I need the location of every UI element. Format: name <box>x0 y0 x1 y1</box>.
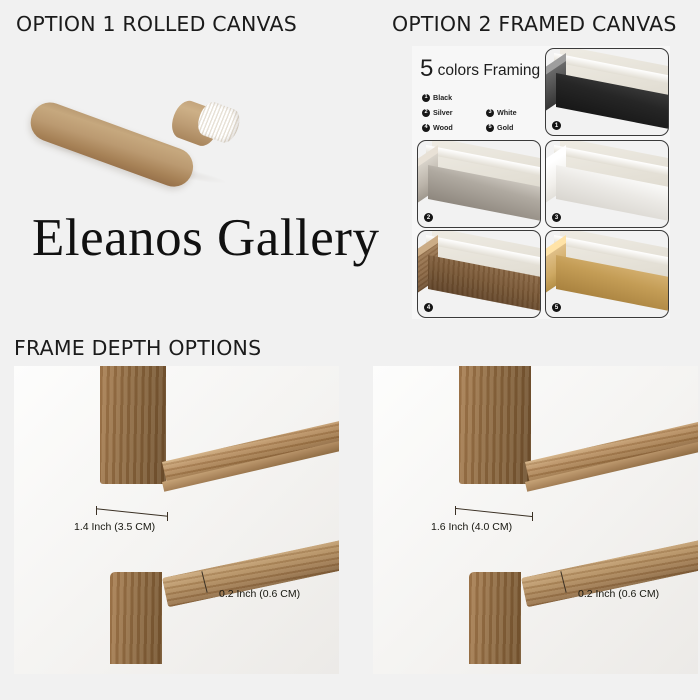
brand-wordmark: Eleanos Gallery <box>32 208 379 268</box>
frame-sample-wood[interactable]: 4 <box>417 230 541 318</box>
legend-label-gold: Gold <box>497 123 513 132</box>
legend-label-white: White <box>497 108 517 117</box>
frame-corner-render <box>545 48 669 136</box>
legend-item-silver: 2 Silver <box>422 108 486 117</box>
framing-count: 5 <box>420 55 433 82</box>
frame-sample-badge-3: 3 <box>552 213 561 222</box>
depth-measure-line <box>455 508 533 517</box>
depth-label-frame: 1.4 Inch (3.5 CM) <box>74 521 155 533</box>
depth-measure-tick-right <box>532 512 533 521</box>
legend-item-black: 1 Black <box>422 93 486 102</box>
option-2-heading: OPTION 2 FRAMED CANVAS <box>392 12 677 36</box>
framing-options-panel: 5 colors Framing 1 Black 2 Silver 3 Whit… <box>412 46 670 319</box>
rolled-canvas-illustration <box>24 52 244 197</box>
legend-number-5: 5 <box>486 124 494 132</box>
legend-number-1: 1 <box>422 94 430 102</box>
frame-edge-bar-end <box>110 572 162 664</box>
legend-number-4: 4 <box>422 124 430 132</box>
frame-sample-white[interactable]: 3 <box>545 140 669 228</box>
frame-sample-gold[interactable]: 5 <box>545 230 669 318</box>
legend-number-3: 3 <box>486 109 494 117</box>
frame-corner-render <box>545 230 669 318</box>
frame-sample-badge-4: 4 <box>424 303 433 312</box>
frame-sample-badge-1: 1 <box>552 121 561 130</box>
depth-label-edge: 0.2 Inch (0.6 CM) <box>219 588 300 600</box>
depth-photo-1-6-inch: 1.6 Inch (4.0 CM) 0.2 Inch (0.6 CM) <box>373 366 698 674</box>
frame-sample-badge-5: 5 <box>552 303 561 312</box>
legend-label-silver: Silver <box>433 108 453 117</box>
frame-corner-render <box>545 140 669 228</box>
frame-corner-render <box>417 230 541 318</box>
legend-label-wood: Wood <box>433 123 453 132</box>
frame-sample-black[interactable]: 1 <box>545 48 669 136</box>
frame-depth-heading: FRAME DEPTH OPTIONS <box>14 336 261 360</box>
frame-sample-silver[interactable]: 2 <box>417 140 541 228</box>
frame-corner-render <box>417 140 541 228</box>
depth-measure-tick-left <box>455 506 456 515</box>
frame-sample-badge-2: 2 <box>424 213 433 222</box>
frame-rail-vertical <box>100 366 166 484</box>
framing-title-text: colors Framing <box>433 62 540 79</box>
depth-label-edge: 0.2 Inch (0.6 CM) <box>578 588 659 600</box>
frame-rail-vertical <box>459 366 531 484</box>
depth-measure-line <box>96 508 168 517</box>
legend-label-black: Black <box>433 93 452 102</box>
depth-label-frame: 1.6 Inch (4.0 CM) <box>431 521 512 533</box>
legend-item-white: 3 White <box>486 108 550 117</box>
depth-photo-1-4-inch: 1.4 Inch (3.5 CM) 0.2 Inch (0.6 CM) <box>14 366 339 674</box>
depth-measure-tick-right <box>167 512 168 521</box>
legend-item-gold: 5 Gold <box>486 123 550 132</box>
option-1-heading: OPTION 1 ROLLED CANVAS <box>16 12 297 36</box>
legend-item-wood: 4 Wood <box>422 123 486 132</box>
frame-edge-bar-end <box>469 572 521 664</box>
framing-title: 5 colors Framing <box>420 55 540 83</box>
color-legend: 1 Black 2 Silver 3 White 4 Wood 5 Gold <box>422 90 557 135</box>
depth-measure-tick-left <box>96 506 97 515</box>
legend-number-2: 2 <box>422 109 430 117</box>
